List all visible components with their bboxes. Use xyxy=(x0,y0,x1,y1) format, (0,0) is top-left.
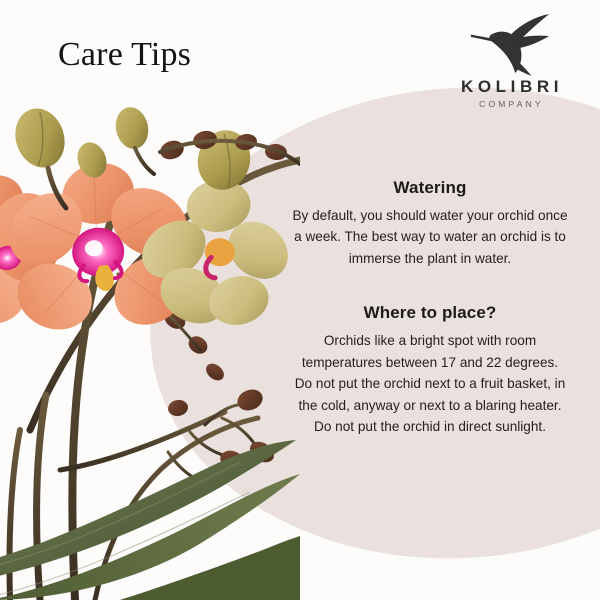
care-body-placement: Orchids like a bright spot with room tem… xyxy=(292,330,568,437)
care-section-placement: Where to place? Orchids like a bright sp… xyxy=(292,303,568,437)
brand-logo[interactable]: KOLIBRI COMPANY xyxy=(440,14,580,109)
care-tips-card: Care Tips KOLIBRI COMPANY Watering By de… xyxy=(0,0,600,600)
care-section-watering: Watering By default, you should water yo… xyxy=(292,178,568,269)
logo-wordmark: KOLIBRI xyxy=(457,78,563,95)
care-tips-column: Watering By default, you should water yo… xyxy=(292,178,568,438)
care-heading-watering: Watering xyxy=(292,178,568,198)
care-body-watering: By default, you should water your orchid… xyxy=(292,205,568,269)
logo-subwordmark: COMPANY xyxy=(476,100,544,109)
page-title: Care Tips xyxy=(58,36,191,74)
hummingbird-icon xyxy=(469,14,551,76)
care-heading-placement: Where to place? xyxy=(292,303,568,323)
